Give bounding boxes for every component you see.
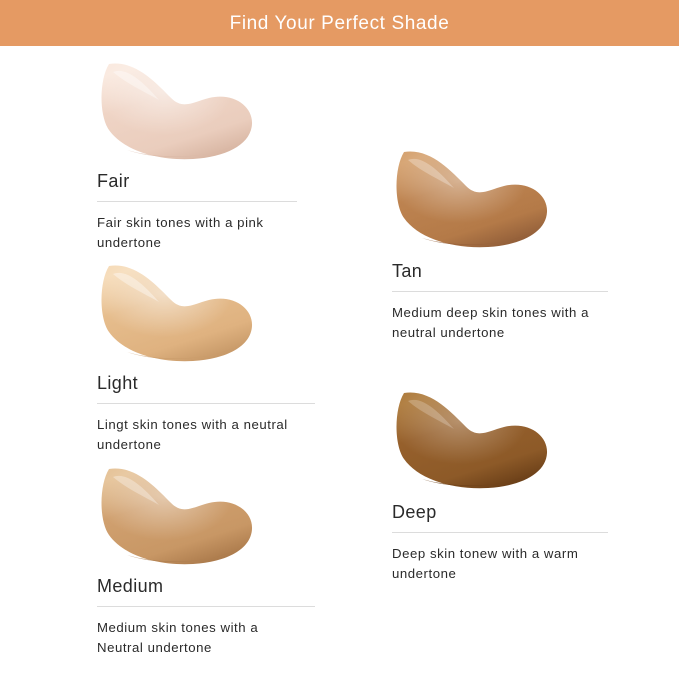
shade-card-medium[interactable]: Medium Medium skin tones with a Neutral … xyxy=(97,463,315,657)
shade-name-light: Light xyxy=(97,374,315,394)
shade-guide-body: Fair Fair skin tones with a pink underto… xyxy=(0,46,679,679)
shade-card-fair[interactable]: Fair Fair skin tones with a pink underto… xyxy=(97,58,297,252)
shade-description-fair: Fair skin tones with a pink undertone xyxy=(97,213,297,253)
shade-card-deep[interactable]: Deep Deep skin tonew with a warm underto… xyxy=(392,387,608,583)
shade-name-fair: Fair xyxy=(97,172,297,192)
divider-deep xyxy=(392,532,608,533)
divider-light xyxy=(97,403,315,404)
divider-fair xyxy=(97,201,297,202)
swatch-deep xyxy=(392,387,552,495)
shade-name-deep: Deep xyxy=(392,503,608,523)
divider-medium xyxy=(97,606,315,607)
shade-name-tan: Tan xyxy=(392,262,608,282)
header-banner: Find Your Perfect Shade xyxy=(0,0,679,46)
shade-card-tan[interactable]: Tan Medium deep skin tones with a neutra… xyxy=(392,146,608,342)
shade-description-medium: Medium skin tones with a Neutral underto… xyxy=(97,618,297,658)
swatch-tan xyxy=(392,146,552,254)
shade-description-tan: Medium deep skin tones with a neutral un… xyxy=(392,303,608,343)
shade-description-deep: Deep skin tonew with a warm undertone xyxy=(392,544,608,584)
divider-tan xyxy=(392,291,608,292)
page-title: Find Your Perfect Shade xyxy=(230,14,450,33)
shade-name-medium: Medium xyxy=(97,577,315,597)
swatch-fair xyxy=(97,58,257,166)
swatch-medium xyxy=(97,463,257,571)
shade-card-light[interactable]: Light Lingt skin tones with a neutral un… xyxy=(97,260,315,454)
shade-description-light: Lingt skin tones with a neutral underton… xyxy=(97,415,315,455)
swatch-light xyxy=(97,260,257,368)
